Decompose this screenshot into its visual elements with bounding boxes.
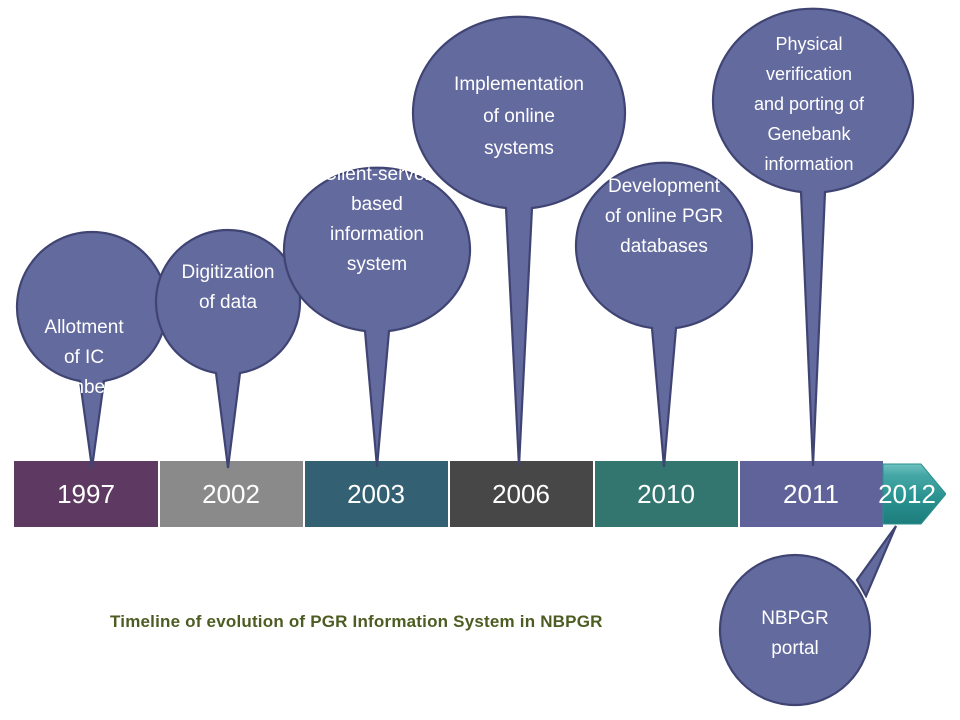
callout-line: portal [771,638,819,659]
callout-bubble-circle-2012 [720,555,870,705]
timeline-segment-year: 2006 [492,479,550,509]
timeline-segment-year: 1997 [57,479,115,509]
timeline-segment-year: 2011 [783,479,839,509]
timeline-segment-year: 2003 [347,479,405,509]
callout-line: system [347,254,407,275]
diagram-caption: Timeline of evolution of PGR Information… [110,612,603,632]
callout-line: of data [199,292,258,313]
callout-physical-verification-genebank[interactable]: Physical verification and porting of Gen… [695,8,915,473]
callout-line: and porting of [754,94,865,114]
callout-nbpgr-portal[interactable]: NBPGR portal [700,518,950,720]
timeline-diagram: Allotment of IC numbers Digitization of … [0,0,960,720]
callout-line: Physical [775,34,842,54]
callout-line: Implementation [454,74,584,95]
callout-line: based [351,194,403,215]
callout-bubble-shape-2012 [857,526,896,596]
timeline-segment-year: 2010 [637,479,695,509]
callout-line: numbers [47,377,121,398]
callout-line: Digitization [182,262,275,283]
callout-line: NBPGR [761,608,829,629]
callout-line: of IC [64,347,104,368]
timeline-segment-year: 2012 [878,479,936,509]
timeline-segment-year: 2002 [202,479,260,509]
callout-line: of online [483,106,555,127]
callout-line: Genebank [767,124,851,144]
callout-line: Allotment [44,317,124,338]
callout-line: verification [766,64,852,84]
callout-line: systems [484,138,554,159]
callout-line: information [764,154,853,174]
